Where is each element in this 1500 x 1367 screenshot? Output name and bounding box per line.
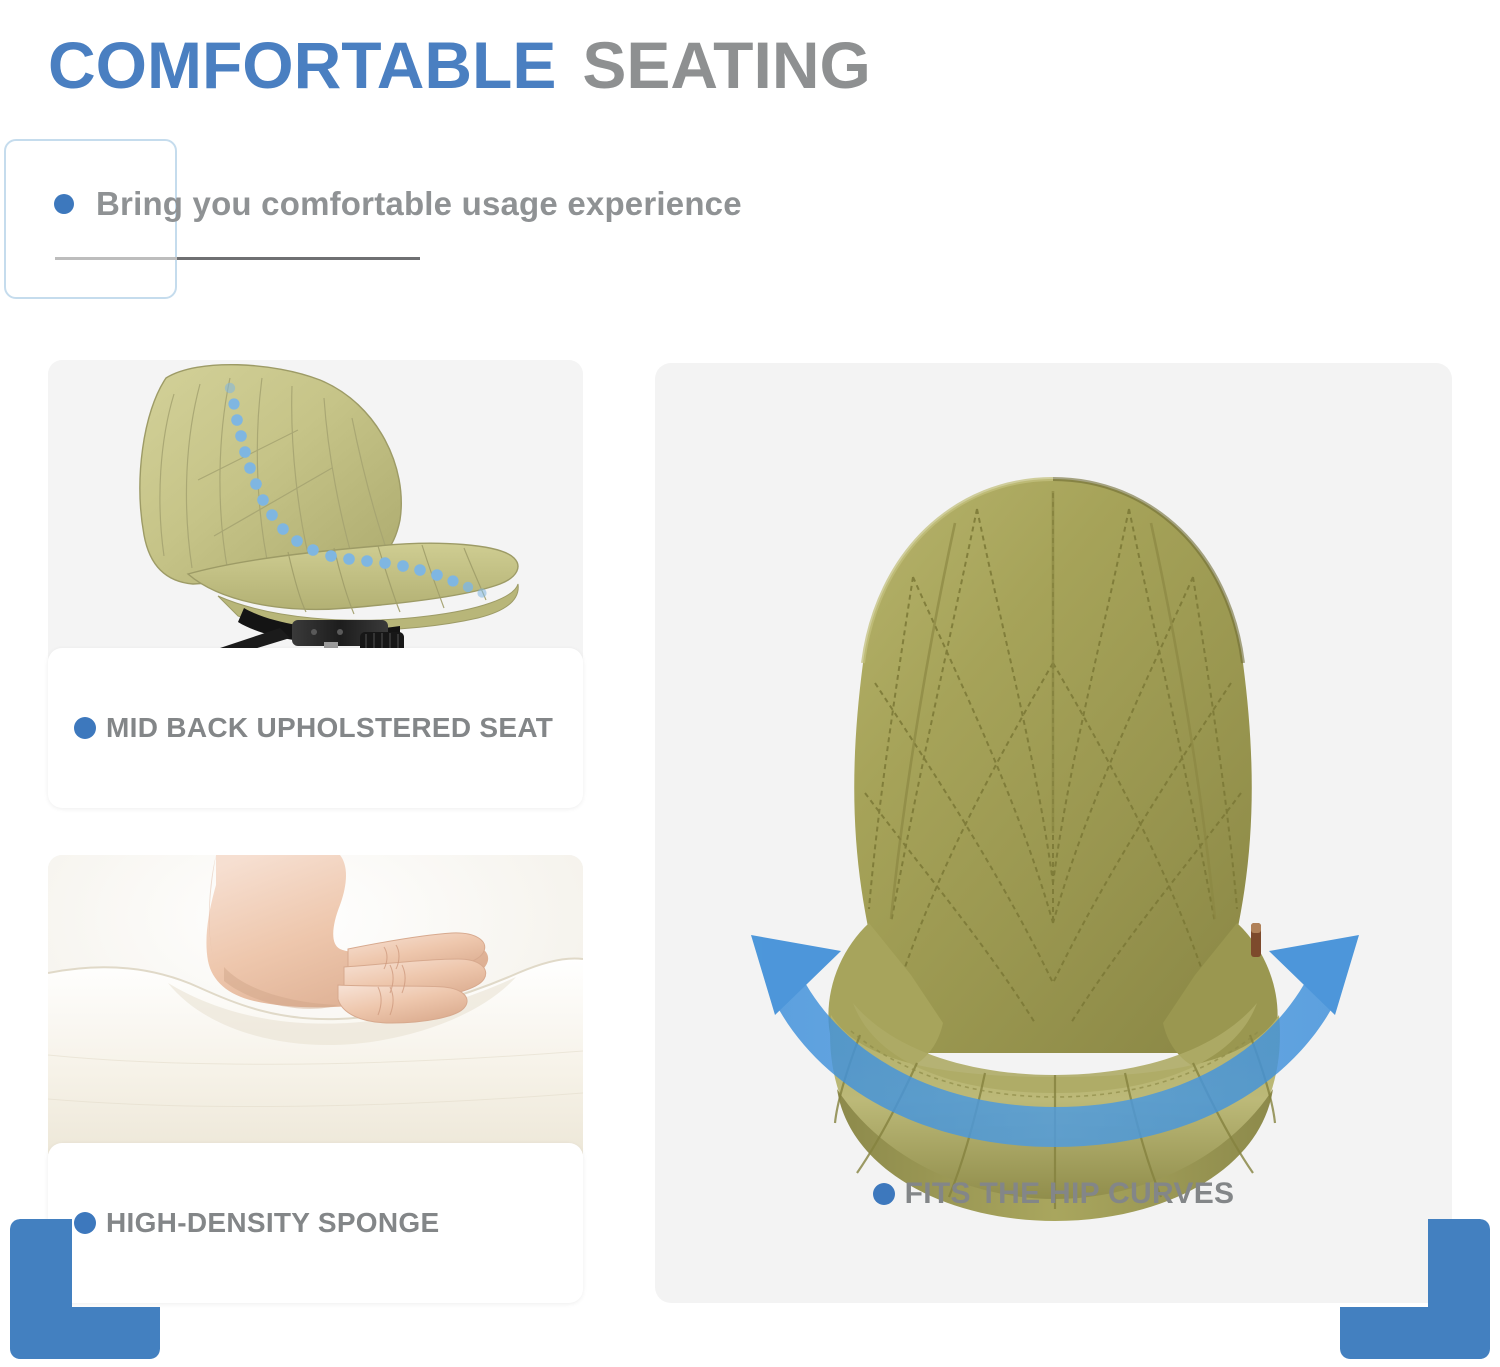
side-chair-illustration	[48, 360, 583, 670]
bullet-dot-icon	[74, 717, 96, 739]
front-chair-illustration	[655, 363, 1452, 1303]
title-word-comfortable: Comfortable	[48, 3, 556, 108]
subtitle-text: Bring you comfortable usage experience	[96, 185, 742, 223]
foam-hand-illustration	[48, 855, 583, 1165]
card-mid-back-upholstered-seat: MID BACK UPHOLSTERED SEAT	[48, 360, 583, 808]
card-label-text: MID BACK UPHOLSTERED SEAT	[106, 712, 553, 744]
panel-fits-the-hip-curves: FITS THE HIP CURVES	[655, 363, 1452, 1303]
bullet-dot-icon	[873, 1183, 895, 1205]
title-word-seating: Seating	[582, 3, 870, 108]
bullet-dot-icon	[54, 194, 74, 214]
panel-label-text: FITS THE HIP CURVES	[905, 1177, 1235, 1211]
divider-rule-dark	[177, 257, 420, 260]
infographic-page: ComfortableSeating Bring you comfortable…	[0, 0, 1500, 1367]
corner-bracket-bottom-left	[10, 1219, 160, 1359]
divider-rule-light	[55, 257, 177, 260]
panel-label-hip-curves: FITS THE HIP CURVES	[655, 1177, 1452, 1211]
card-image-side-chair	[48, 360, 583, 670]
card-label-mid-back: MID BACK UPHOLSTERED SEAT	[48, 648, 583, 808]
card-image-foam-press	[48, 855, 583, 1165]
subtitle-row: Bring you comfortable usage experience	[54, 185, 742, 223]
page-title: ComfortableSeating	[48, 6, 871, 109]
corner-bracket-bottom-right	[1340, 1219, 1490, 1359]
